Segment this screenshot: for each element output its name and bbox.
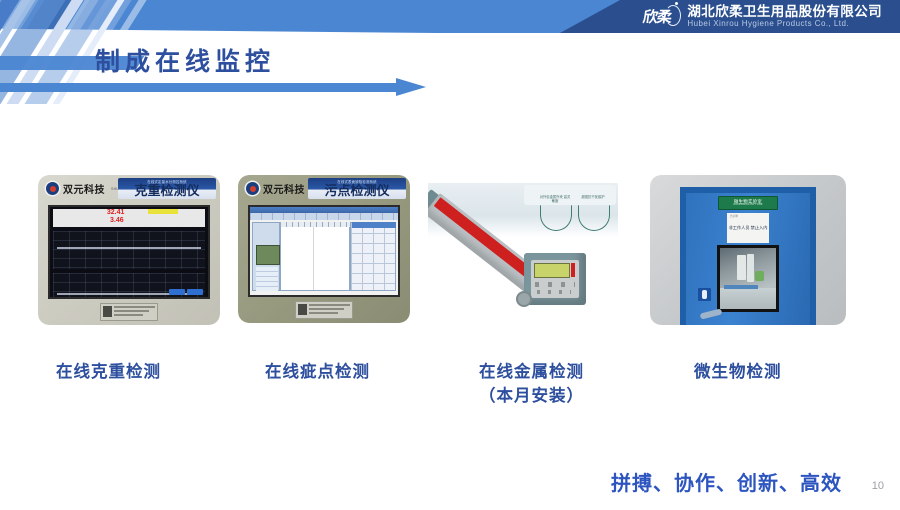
plate-line — [309, 312, 338, 314]
software-canvas[interactable] — [280, 222, 350, 291]
feature-badge-arc-icon — [540, 205, 572, 231]
arrow-head-icon — [396, 78, 426, 96]
notice-label: 告示牌 — [730, 215, 738, 218]
door-placard-icon — [698, 288, 711, 301]
screen-alert-bar — [148, 209, 178, 214]
nameplate-subtitle: 在线式定量水分测控系统 — [118, 179, 216, 184]
detector-control-panel — [531, 260, 579, 298]
company-name-block: 湖北欣柔卫生用品股份有限公司 Hubei Xinrou Hygiene Prod… — [687, 4, 882, 28]
nameplate-subtitle: 在线式表面缺陷检测系统 — [308, 179, 406, 184]
company-name-en: Hubei Xinrou Hygiene Products Co., Ltd. — [687, 20, 882, 29]
defect-thumbnail[interactable] — [256, 245, 280, 265]
lab-plant — [755, 271, 764, 281]
shuangyuan-logo-icon — [246, 182, 259, 195]
caption-micro: 微生物检测 — [694, 360, 782, 384]
footer-slogan: 拼搏、协作、创新、高效 — [611, 467, 842, 496]
chart-trace — [57, 247, 201, 249]
plate-line — [309, 308, 344, 310]
door-handle[interactable] — [700, 308, 723, 319]
software-button-stack[interactable] — [256, 267, 278, 291]
nameplate-title: 克重检测仪 — [134, 185, 199, 199]
company-name-cn: 湖北欣柔卫生用品股份有限公司 — [687, 4, 882, 19]
device-nameplate: 在线式定量水分测控系统 克重检测仪 — [118, 178, 216, 199]
screen-button[interactable] — [169, 289, 185, 295]
instrument-cabinet: 双元科技 SHUANGYUAN TECHNOLOGY 在线式表面缺陷检测系统 污… — [238, 175, 410, 323]
metal-detector-background: 对外包金属外壳 高灵敏度 超强抗干扰保护 — [428, 175, 618, 327]
slide-header: 欣柔 湖北欣柔卫生用品股份有限公司 Hubei Xinrou Hygiene P… — [0, 0, 900, 33]
logo-dot — [675, 2, 678, 5]
title-arrow — [0, 78, 430, 96]
detector-lcd-screen — [534, 263, 570, 278]
device-brand-cn: 双元科技 — [263, 181, 305, 196]
instrument-cabinet: 双元科技 SHUANGYUAN TECHNOLOGY 在线式定量水分测控系统 克… — [38, 175, 220, 325]
page-title: 制成在线监控 — [95, 42, 275, 78]
device-screen — [248, 205, 400, 297]
plate-line — [114, 306, 155, 308]
canvas-fold-line — [313, 223, 314, 290]
lab-room-sign: 微生物实验室 MICROBIOLOGY LAB — [718, 196, 778, 210]
plate-line — [309, 304, 350, 306]
plate-line — [114, 310, 149, 312]
page-number: 10 — [872, 480, 884, 492]
feature-badge-arc-icon — [578, 205, 610, 231]
photo-metal-detector: 对外包金属外壳 高灵敏度 超强抗干扰保护 — [428, 175, 618, 327]
caption-defect: 在线疵点检测 — [265, 360, 370, 384]
plate-logo-icon — [298, 304, 307, 315]
arrow-bar — [0, 83, 398, 92]
data-table-header — [352, 222, 396, 228]
lab-door: 微生物实验室 MICROBIOLOGY LAB 告示牌 非工作人员 禁止入内 — [686, 193, 810, 325]
inspection-software-ui — [250, 207, 398, 295]
software-left-pane — [252, 222, 280, 291]
device-spec-plate — [100, 303, 158, 321]
lab-wall: 微生物实验室 MICROBIOLOGY LAB 告示牌 非工作人员 禁止入内 — [650, 175, 846, 325]
cabinet-top: 双元科技 SHUANGYUAN TECHNOLOGY 在线式定量水分测控系统 克… — [38, 175, 220, 201]
feature-badge-label: 对外包金属外壳 高灵敏度 — [539, 195, 571, 203]
lab-blue-band — [724, 285, 758, 289]
device-screen: 32.41 3.46 — [48, 205, 210, 299]
window-glass — [720, 248, 776, 309]
screen-button[interactable] — [187, 289, 203, 295]
door-notice: 告示牌 非工作人员 禁止入内 — [727, 213, 769, 243]
caption-metal-line2: （本月安装） — [479, 384, 584, 408]
readout-primary: 32.41 — [107, 209, 125, 216]
photo-microbiology-lab: 微生物实验室 MICROBIOLOGY LAB 告示牌 非工作人员 禁止入内 — [650, 175, 846, 325]
readout-secondary: 3.46 — [110, 217, 124, 224]
device-nameplate: 在线式表面缺陷检测系统 污点检测仪 — [308, 178, 406, 199]
logo-ring — [665, 5, 681, 26]
company-branding: 欣柔 湖北欣柔卫生用品股份有限公司 Hubei Xinrou Hygiene P… — [634, 1, 882, 32]
caption-metal: 在线金属检测 （本月安装） — [479, 360, 584, 408]
detector-cable-connector — [516, 291, 532, 307]
caption-grammage: 在线克重检测 — [56, 360, 161, 384]
nameplate-title: 污点检测仪 — [324, 185, 389, 199]
screen-chart-upper — [53, 231, 205, 269]
company-logo-icon: 欣柔 — [634, 3, 680, 30]
device-brand-cn: 双元科技 — [63, 181, 105, 196]
software-toolbar[interactable] — [250, 213, 398, 220]
door-viewing-window — [717, 245, 779, 312]
door-frame: 微生物实验室 MICROBIOLOGY LAB 告示牌 非工作人员 禁止入内 — [680, 187, 816, 325]
notice-text: 非工作人员 禁止入内 — [729, 225, 768, 230]
lab-sign-en: MICROBIOLOGY LAB — [733, 204, 762, 207]
cabinet-top: 双元科技 SHUANGYUAN TECHNOLOGY 在线式表面缺陷检测系统 污… — [238, 175, 410, 201]
lab-counter — [720, 288, 776, 309]
software-data-table — [350, 222, 396, 291]
screen-top-strip — [53, 209, 205, 227]
slide: 欣柔 湖北欣柔卫生用品股份有限公司 Hubei Xinrou Hygiene P… — [0, 0, 900, 510]
caption-metal-line1: 在线金属检测 — [479, 360, 584, 384]
panel-captions: 在线克重检测 在线疵点检测 在线金属检测 （本月安装） 微生物检测 — [0, 360, 900, 410]
lab-equipment — [747, 254, 754, 281]
plate-logo-icon — [103, 306, 112, 317]
photo-defect-detector: 双元科技 SHUANGYUAN TECHNOLOGY 在线式表面缺陷检测系统 污… — [238, 175, 410, 323]
feature-badges: 对外包金属外壳 高灵敏度 超强抗干扰保护 — [540, 195, 612, 231]
screen-surface: 32.41 3.46 — [50, 207, 208, 297]
feature-badge-label: 超强抗干扰保护 — [577, 195, 609, 199]
photo-panels: 双元科技 SHUANGYUAN TECHNOLOGY 在线式定量水分测控系统 克… — [0, 175, 900, 340]
device-spec-plate — [295, 301, 353, 319]
canvas-ruler — [280, 222, 350, 227]
photo-grammage-detector: 双元科技 SHUANGYUAN TECHNOLOGY 在线式定量水分测控系统 克… — [38, 175, 220, 325]
detector-control-head — [524, 253, 586, 305]
lab-equipment — [737, 255, 746, 279]
plate-line — [114, 314, 143, 316]
detector-knob-row[interactable] — [537, 290, 571, 294]
shuangyuan-logo-icon — [46, 182, 59, 195]
detector-knob-row[interactable] — [535, 282, 575, 287]
